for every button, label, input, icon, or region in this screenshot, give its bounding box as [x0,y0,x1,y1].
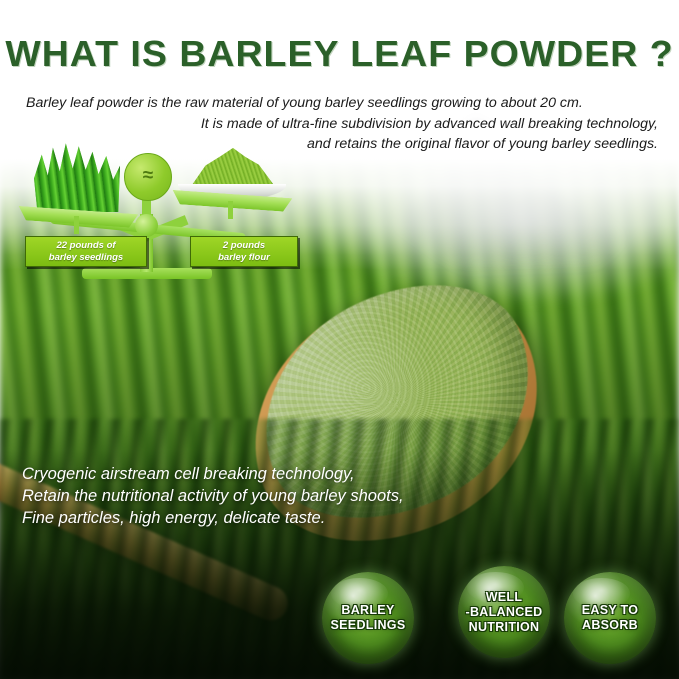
badge-2-line-3: NUTRITION [466,620,543,635]
product-infographic-poster: WHAT IS BARLEY LEAF POWDER ? Barley leaf… [0,0,679,679]
badge-2-line-1: WELL [466,590,543,605]
badge-easy-to-absorb: EASY TO ABSORB [564,572,656,664]
badge-1-line-2: SEEDLINGS [331,618,406,633]
badge-1-line-1: BARLEY [331,603,406,618]
badge-well-balanced-nutrition: WELL -BALANCED NUTRITION [458,566,550,658]
badge-barley-seedlings: BARLEY SEEDLINGS [322,572,414,664]
badge-3-line-2: ABSORB [582,618,639,633]
badge-easy-to-absorb-label: EASY TO ABSORB [582,603,639,633]
benefit-badge-group: BARLEY SEEDLINGS WELL -BALANCED NUTRITIO… [0,0,679,679]
badge-3-line-1: EASY TO [582,603,639,618]
badge-barley-seedlings-label: BARLEY SEEDLINGS [331,603,406,633]
badge-well-balanced-nutrition-label: WELL -BALANCED NUTRITION [466,590,543,635]
badge-2-line-2: -BALANCED [466,605,543,620]
